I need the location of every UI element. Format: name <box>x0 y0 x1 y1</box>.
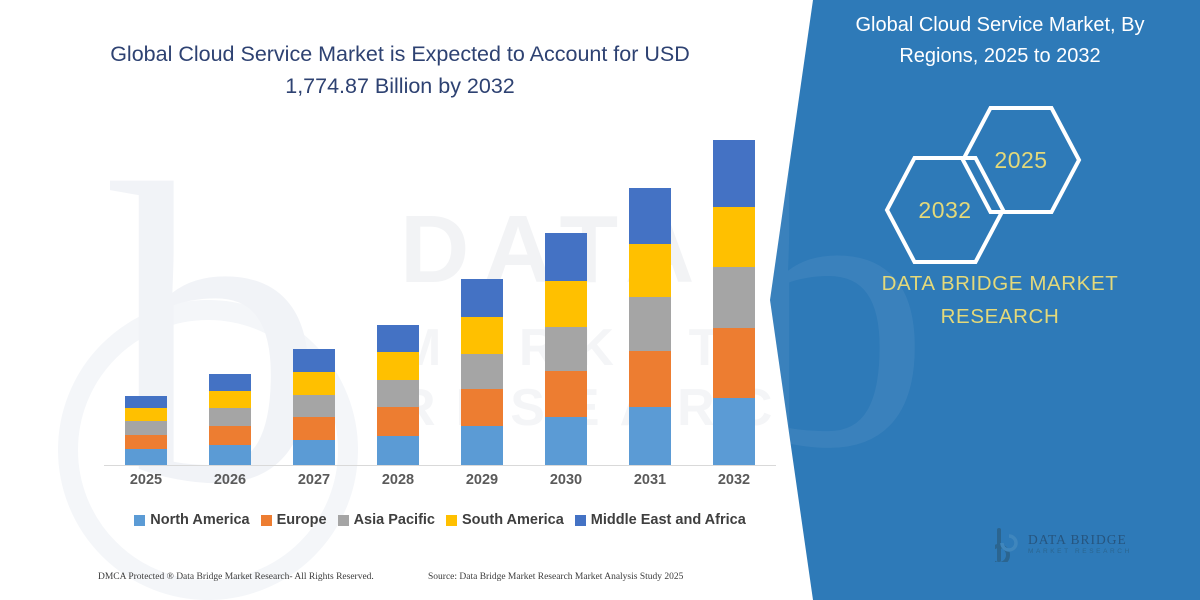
bar-segment <box>377 436 419 466</box>
bar-segment <box>629 297 671 350</box>
right-blue-panel: b Global Cloud Service Market, By Region… <box>770 0 1200 600</box>
stacked-bar-plot <box>104 140 776 466</box>
bar-segment <box>377 352 419 380</box>
brand-name: DATA BRIDGE MARKET RESEARCH <box>810 268 1190 334</box>
bar-segment <box>209 445 251 466</box>
footer-dmca-notice: DMCA Protected ® Data Bridge Market Rese… <box>98 572 374 582</box>
bar-segment <box>125 421 167 435</box>
logo-main-text: DATA BRIDGE <box>1028 533 1132 548</box>
footer-source-note: Source: Data Bridge Market Research Mark… <box>428 572 683 582</box>
bar-segment <box>713 328 755 398</box>
x-axis-label-2031: 2031 <box>608 472 692 488</box>
bar-column-2028 <box>377 325 419 467</box>
x-axis-label-2030: 2030 <box>524 472 608 488</box>
bar-segment <box>293 349 335 372</box>
legend-item-middle-east-and-africa[interactable]: Middle East and Africa <box>575 512 746 528</box>
logo-sub-text: MARKET RESEARCH <box>1028 548 1132 556</box>
bar-column-2032 <box>713 140 755 466</box>
bar-segment <box>125 408 167 421</box>
legend-label: Asia Pacific <box>354 512 435 528</box>
bar-segment <box>461 279 503 317</box>
bar-segment <box>629 351 671 408</box>
footer: DMCA Protected ® Data Bridge Market Rese… <box>0 562 800 600</box>
bar-segment <box>629 188 671 244</box>
bar-segment <box>545 371 587 417</box>
brand-line1: DATA BRIDGE MARKET <box>882 272 1119 295</box>
legend-swatch-icon <box>134 515 145 526</box>
bar-column-2031 <box>629 188 671 466</box>
bar-segment <box>377 380 419 407</box>
bar-column-2029 <box>461 279 503 466</box>
logo-text-block: DATA BRIDGE MARKET RESEARCH <box>1028 533 1132 556</box>
x-axis-label-2029: 2029 <box>440 472 524 488</box>
x-axis-labels: 20252026202720282029203020312032 <box>104 472 776 498</box>
chart-legend: North AmericaEuropeAsia PacificSouth Ame… <box>104 512 776 528</box>
chart-title-line1: Global Cloud Service Market is Expected … <box>110 42 690 66</box>
bar-segment <box>545 233 587 280</box>
panel-title-line2: Regions, 2025 to 2032 <box>899 45 1100 67</box>
page-title: Global Cloud Service Market is Expected … <box>90 38 710 103</box>
bar-segment <box>461 354 503 390</box>
x-axis-line <box>104 465 776 466</box>
legend-item-asia-pacific[interactable]: Asia Pacific <box>338 512 435 528</box>
bar-segment <box>629 244 671 297</box>
legend-label: South America <box>462 512 564 528</box>
bar-segment <box>545 417 587 466</box>
x-axis-label-2028: 2028 <box>356 472 440 488</box>
x-axis-label-2026: 2026 <box>188 472 272 488</box>
bar-segment <box>545 281 587 327</box>
bar-segment <box>125 396 167 409</box>
x-axis-label-2025: 2025 <box>104 472 188 488</box>
data-bridge-logo: DATA BRIDGE MARKET RESEARCH <box>995 528 1132 562</box>
legend-swatch-icon <box>261 515 272 526</box>
legend-label: Middle East and Africa <box>591 512 746 528</box>
panel-title-line1: Global Cloud Service Market, By <box>855 14 1144 36</box>
bar-segment <box>293 372 335 395</box>
legend-label: Europe <box>277 512 327 528</box>
legend-item-south-america[interactable]: South America <box>446 512 564 528</box>
bar-column-2030 <box>545 233 587 466</box>
bar-column-2026 <box>209 374 251 466</box>
bar-segment <box>545 327 587 371</box>
bar-segment <box>461 426 503 466</box>
bar-segment <box>209 374 251 391</box>
bar-segment <box>293 395 335 417</box>
brand-line2: RESEARCH <box>941 305 1060 328</box>
bar-segment <box>713 207 755 267</box>
legend-label: North America <box>150 512 249 528</box>
legend-item-europe[interactable]: Europe <box>261 512 327 528</box>
bar-column-2027 <box>293 349 335 466</box>
bar-segment <box>377 407 419 435</box>
bar-segment <box>713 267 755 328</box>
legend-item-north-america[interactable]: North America <box>134 512 249 528</box>
hexagon-label-right: 2025 <box>994 147 1047 174</box>
legend-swatch-icon <box>575 515 586 526</box>
bar-segment <box>125 449 167 466</box>
logo-b-mark-icon <box>995 528 1021 562</box>
bar-segment <box>461 389 503 426</box>
bar-segment <box>293 440 335 466</box>
legend-swatch-icon <box>338 515 349 526</box>
bar-segment <box>209 426 251 445</box>
bar-segment <box>377 325 419 352</box>
x-axis-label-2027: 2027 <box>272 472 356 488</box>
bar-segment <box>293 417 335 440</box>
bar-segment <box>713 140 755 207</box>
hexagon-badge-2025: 2025 <box>960 105 1082 215</box>
bar-segment <box>629 407 671 466</box>
legend-swatch-icon <box>446 515 457 526</box>
chart-panel: Global Cloud Service Market is Expected … <box>0 0 800 600</box>
bar-column-2025 <box>125 396 167 466</box>
bar-segment <box>125 435 167 450</box>
chart-title-line2: 1,774.87 Billion by 2032 <box>285 74 515 98</box>
bar-segment <box>209 408 251 426</box>
bar-segment <box>209 391 251 409</box>
panel-title: Global Cloud Service Market, By Regions,… <box>820 10 1180 72</box>
x-axis-label-2032: 2032 <box>692 472 776 488</box>
bar-segment <box>713 398 755 466</box>
bar-segment <box>461 317 503 354</box>
